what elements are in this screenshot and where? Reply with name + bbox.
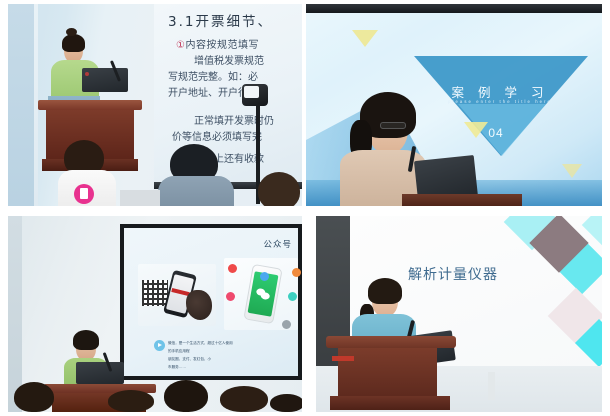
slide-body-line-3: 朋友圈、支付、发红包、小 <box>168 356 211 363</box>
screen-top-frame <box>306 4 602 13</box>
wall-panel <box>8 4 34 206</box>
photo-top-right[interactable]: 案 例 学 习 please enter the title here 04 <box>306 4 602 206</box>
wall-panel <box>8 216 22 412</box>
whiteboard-surface: 公众号 <box>124 228 298 376</box>
app-dot-pink <box>226 292 235 301</box>
photo-bottom-left[interactable]: 公众号 <box>8 216 302 412</box>
slide-line-2: 增值税发票规范 <box>194 52 264 67</box>
laptop <box>82 68 128 92</box>
app-dot-teal <box>288 292 297 301</box>
yellow-triangle-3 <box>562 164 582 178</box>
slide-line-5: 正常填开发票时仍 <box>194 112 274 127</box>
app-dot-gray <box>282 320 291 329</box>
bullet-arrow-icon <box>154 340 165 351</box>
wechat-logo-icon <box>255 288 271 300</box>
laptop <box>76 362 124 384</box>
slide-title: 3.1开票细节、 <box>168 10 273 30</box>
slide-title: 解析计量仪器 <box>408 264 498 284</box>
photo-collage: 3.1开票细节、 ①内容按规范填写 增值税发票规范 写规范完整。如：必 开户地址… <box>0 0 610 416</box>
slide-line-3: 写规范完整。如：必 <box>168 68 258 83</box>
slide-body-line-2: 的手机应用程 <box>168 348 190 355</box>
slide-title: 公众号 <box>263 238 292 250</box>
app-dot-orange <box>292 268 301 277</box>
podium <box>326 336 456 412</box>
photo-bottom-right[interactable]: 解析计量仪器 <box>316 216 602 412</box>
slide-subtitle: please enter the title here <box>442 99 558 104</box>
wechat-image <box>224 258 298 330</box>
qr-code <box>142 280 168 306</box>
yellow-triangle-1 <box>352 30 378 47</box>
hand <box>186 290 212 320</box>
floor-outlet <box>488 372 495 400</box>
photo-top-left[interactable]: 3.1开票细节、 ①内容按规范填写 增值税发票规范 写规范完整。如：必 开户地址… <box>8 4 302 206</box>
qr-scan-image <box>138 264 216 326</box>
slide-body-line-4: 市服务…… <box>168 364 186 371</box>
slide-bullet-1: ①内容按规范填写 <box>176 36 259 51</box>
section-number: 04 <box>476 126 516 140</box>
slide-body-line-1: 微信，是一个生活方式，超过十亿人使用 <box>168 340 233 347</box>
bullet-text-1: 内容按规范填写 <box>185 40 259 51</box>
podium <box>402 194 522 206</box>
app-dot-blue <box>260 272 269 281</box>
slide-line-6: 价等信息必须填写完 <box>172 128 262 143</box>
red-object <box>332 356 354 361</box>
interactive-whiteboard: 公众号 <box>120 224 302 380</box>
app-dot-red <box>228 264 237 273</box>
